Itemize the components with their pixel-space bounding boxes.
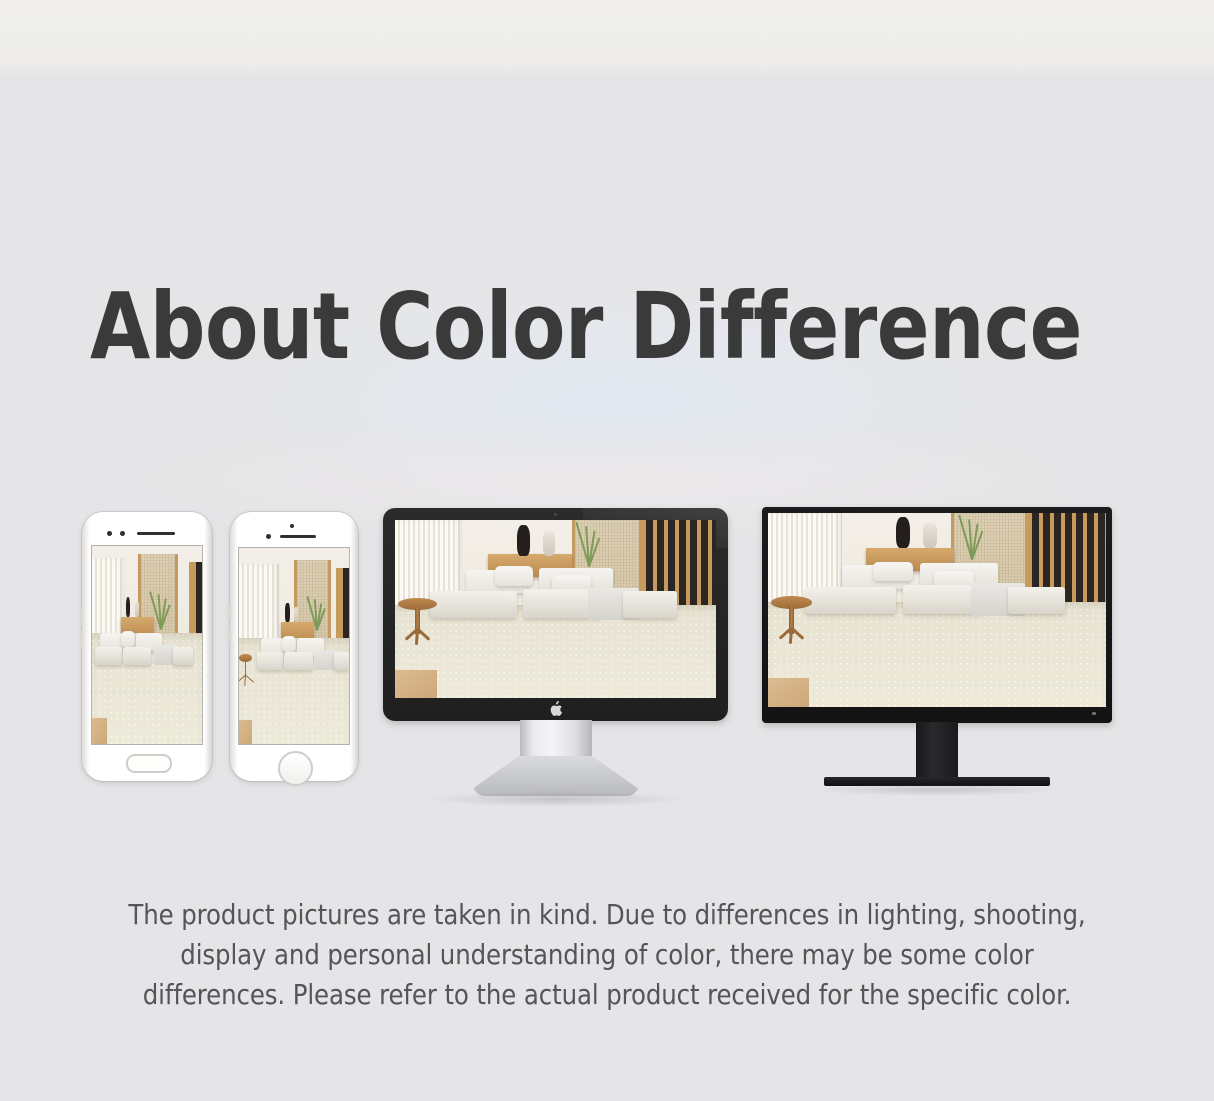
room-scene-image (239, 548, 349, 744)
monitor-screen (768, 513, 1106, 707)
apple-logo-icon (549, 701, 563, 717)
phone-iphone-mockup (230, 512, 358, 781)
phone-screen (239, 548, 349, 744)
monitor-screen (395, 520, 716, 698)
monitor-shadow (812, 784, 1062, 796)
home-button[interactable] (126, 754, 172, 773)
home-button[interactable] (278, 751, 313, 786)
earpiece-speaker (137, 532, 175, 535)
device-showcase (0, 495, 1214, 825)
front-camera-icon (107, 531, 112, 536)
volume-button (80, 607, 83, 625)
apple-monitor-mockup (383, 508, 728, 808)
monitor-stand-neck (916, 722, 958, 780)
volume-down-button (228, 626, 231, 642)
monitor-stand-base (473, 756, 639, 796)
webcam-icon (554, 513, 557, 516)
proximity-sensor-icon (120, 531, 125, 536)
volume-down-button (80, 630, 83, 648)
power-led-icon (1092, 712, 1096, 715)
room-scene-image (92, 546, 202, 744)
front-camera-icon (266, 534, 271, 539)
phone-android-mockup (82, 512, 212, 781)
room-scene-image (768, 513, 1106, 707)
disclaimer-line-2: display and personal understanding of co… (57, 935, 1157, 975)
monitor-shadow (426, 791, 686, 807)
monitor-stand-neck (520, 720, 592, 758)
black-monitor-mockup (762, 507, 1112, 807)
volume-button (228, 604, 231, 620)
disclaimer-line-3: differences. Please refer to the actual … (57, 975, 1157, 1015)
disclaimer-text: The product pictures are taken in kind. … (40, 895, 1174, 1015)
proximity-sensor-icon (290, 524, 294, 528)
about-color-difference-page: About Color Difference (0, 0, 1214, 1101)
page-title: About Color Difference (90, 275, 1068, 385)
disclaimer-line-1: The product pictures are taken in kind. … (57, 895, 1157, 935)
room-scene-image (395, 520, 716, 698)
phone-screen (92, 546, 202, 744)
earpiece-speaker (280, 535, 316, 538)
